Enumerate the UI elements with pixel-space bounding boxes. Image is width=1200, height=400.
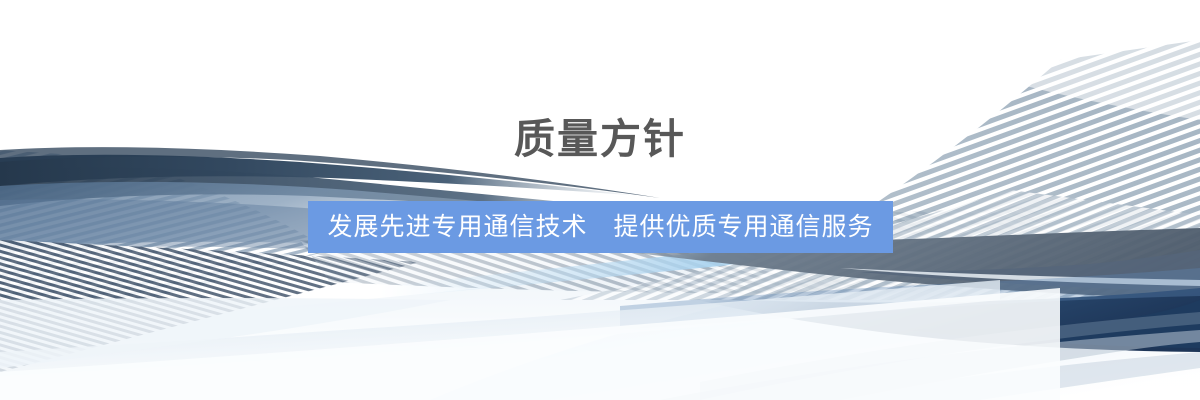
slogan-text: 发展先进专用通信技术 提供优质专用通信服务	[327, 215, 873, 240]
banner-content: 质量方针 发展先进专用通信技术 提供优质专用通信服务	[0, 0, 1200, 400]
page-title: 质量方针	[0, 115, 1200, 164]
slogan-bar: 发展先进专用通信技术 提供优质专用通信服务	[308, 201, 893, 253]
quality-policy-banner: 质量方针 发展先进专用通信技术 提供优质专用通信服务	[0, 0, 1200, 400]
